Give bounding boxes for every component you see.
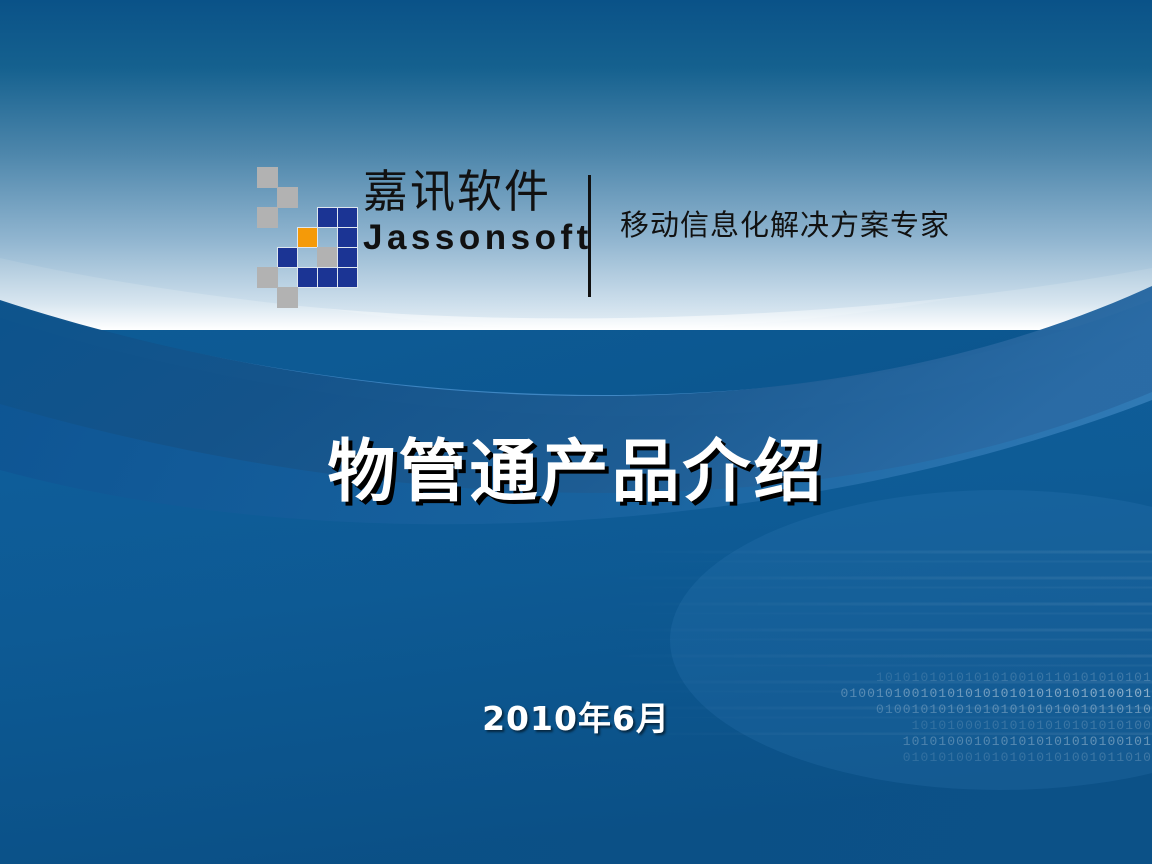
logo-tile [337, 227, 358, 248]
logo-tile [337, 247, 358, 268]
logo-tile [317, 247, 338, 268]
presentation-slide: 1010101010101010010110101010101 01001010… [0, 0, 1152, 864]
logo-tile [317, 267, 338, 288]
logo-divider-rule [588, 175, 591, 297]
company-tagline: 移动信息化解决方案专家 [620, 205, 950, 245]
jassonsoft-logo-mark [255, 165, 373, 300]
company-name-cn: 嘉讯软件 [363, 167, 593, 217]
logo-tile [317, 207, 338, 228]
logo-tile [257, 167, 278, 188]
company-name-en: Jassonsoft [363, 218, 593, 258]
logo-tile [297, 227, 318, 248]
company-name-group: 嘉讯软件 Jassonsoft [363, 167, 593, 258]
logo-tile [337, 267, 358, 288]
slide-date: 2010年6月 [0, 698, 1152, 740]
logo-tile [257, 207, 278, 228]
logo-tile [277, 247, 298, 268]
logo-tile [277, 287, 298, 308]
slide-title: 物管通产品介绍 [0, 432, 1152, 514]
logo-tile [257, 267, 278, 288]
logo-tile [297, 267, 318, 288]
logo-tile [337, 207, 358, 228]
logo-tile [277, 187, 298, 208]
company-logo-lockup: 嘉讯软件 Jassonsoft 移动信息化解决方案专家 [255, 165, 995, 300]
